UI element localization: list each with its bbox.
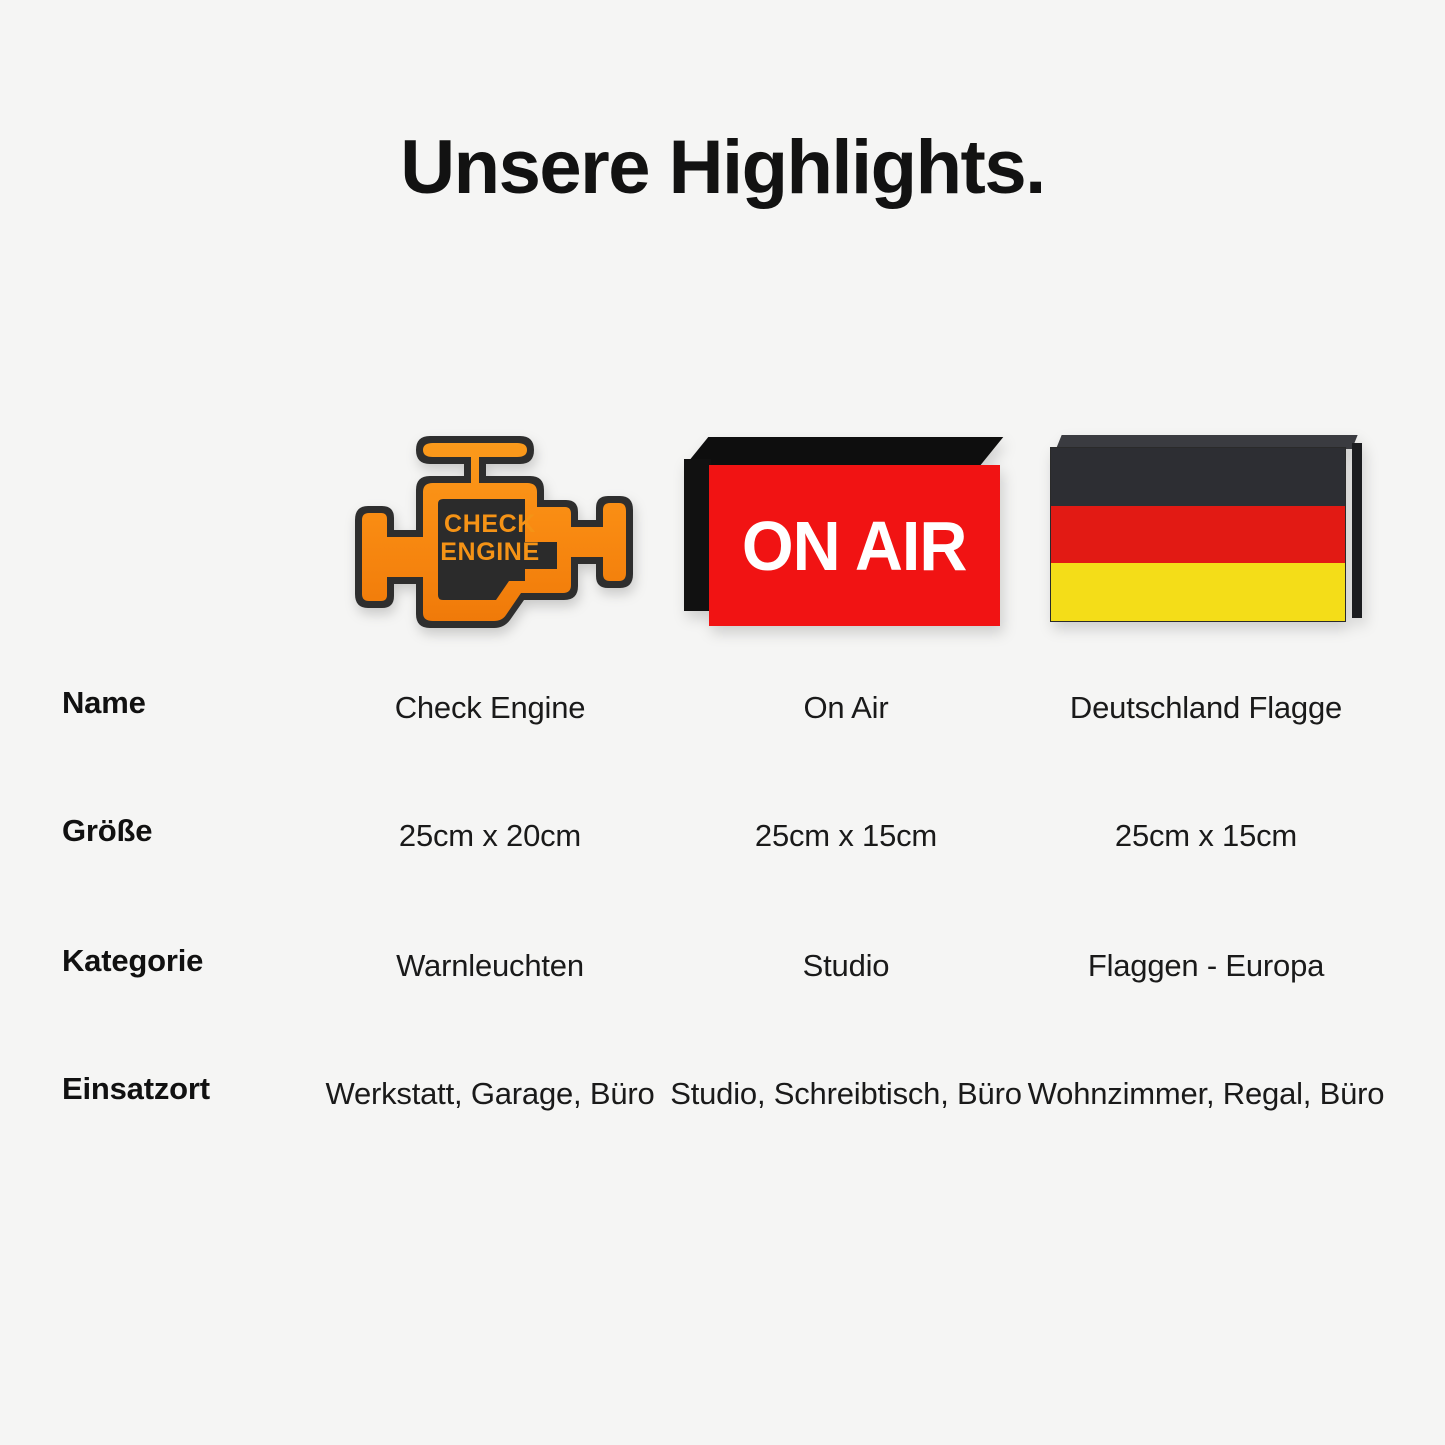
highlights-page: Unsere Highlights. — [0, 0, 1445, 1445]
flag-right-edge — [1352, 443, 1362, 618]
cell-name-on-air: On Air — [670, 686, 1022, 730]
table-row: Größe 25cm x 20cm 25cm x 15cm 25cm x 15c… — [0, 814, 1445, 944]
cell-kategorie-on-air: Studio — [670, 944, 1022, 988]
page-title: Unsere Highlights. — [0, 128, 1445, 208]
cell-kategorie-deutschland-flagge: Flaggen - Europa — [1022, 944, 1390, 988]
cell-name-check-engine: Check Engine — [310, 686, 670, 730]
row-label-einsatzort: Einsatzort — [0, 1072, 310, 1106]
check-engine-shape — [334, 424, 646, 646]
flag-band-gold — [1051, 563, 1345, 621]
cell-einsatzort-on-air: Studio, Schreibtisch, Büro — [670, 1072, 1022, 1116]
cell-kategorie-check-engine: Warnleuchten — [310, 944, 670, 988]
product-image-check-engine[interactable]: CHECK ENGINE — [310, 410, 670, 660]
germany-flag-lightbox — [1050, 435, 1362, 635]
product-image-deutschland-flagge[interactable] — [1022, 410, 1390, 660]
row-label-groesse: Größe — [0, 814, 310, 848]
product-image-row: CHECK ENGINE ON AIR — [0, 410, 1445, 660]
on-air-front-face: ON AIR — [709, 465, 1000, 626]
spec-comparison-table: Name Check Engine On Air Deutschland Fla… — [0, 686, 1445, 1242]
flag-front-face — [1050, 447, 1346, 622]
on-air-label: ON AIR — [742, 511, 967, 581]
cell-einsatzort-check-engine: Werkstatt, Garage, Büro — [310, 1072, 670, 1116]
on-air-side-edge — [684, 459, 711, 611]
product-image-on-air[interactable]: ON AIR — [668, 410, 1020, 660]
row-label-kategorie: Kategorie — [0, 944, 310, 978]
cell-groesse-deutschland-flagge: 25cm x 15cm — [1022, 814, 1390, 858]
row-label-name: Name — [0, 686, 310, 720]
cell-groesse-check-engine: 25cm x 20cm — [310, 814, 670, 858]
on-air-top-edge — [684, 437, 1003, 467]
check-engine-lamp-icon: CHECK ENGINE — [334, 424, 646, 646]
on-air-lightbox: ON AIR — [684, 437, 1004, 633]
table-row: Kategorie Warnleuchten Studio Flaggen - … — [0, 944, 1445, 1072]
cell-groesse-on-air: 25cm x 15cm — [670, 814, 1022, 858]
cell-name-deutschland-flagge: Deutschland Flagge — [1022, 686, 1390, 730]
flag-band-red — [1051, 506, 1345, 564]
table-row: Einsatzort Werkstatt, Garage, Büro Studi… — [0, 1072, 1445, 1242]
table-row: Name Check Engine On Air Deutschland Fla… — [0, 686, 1445, 814]
flag-band-black — [1051, 448, 1345, 506]
cell-einsatzort-deutschland-flagge: Wohnzimmer, Regal, Büro — [1022, 1072, 1390, 1116]
